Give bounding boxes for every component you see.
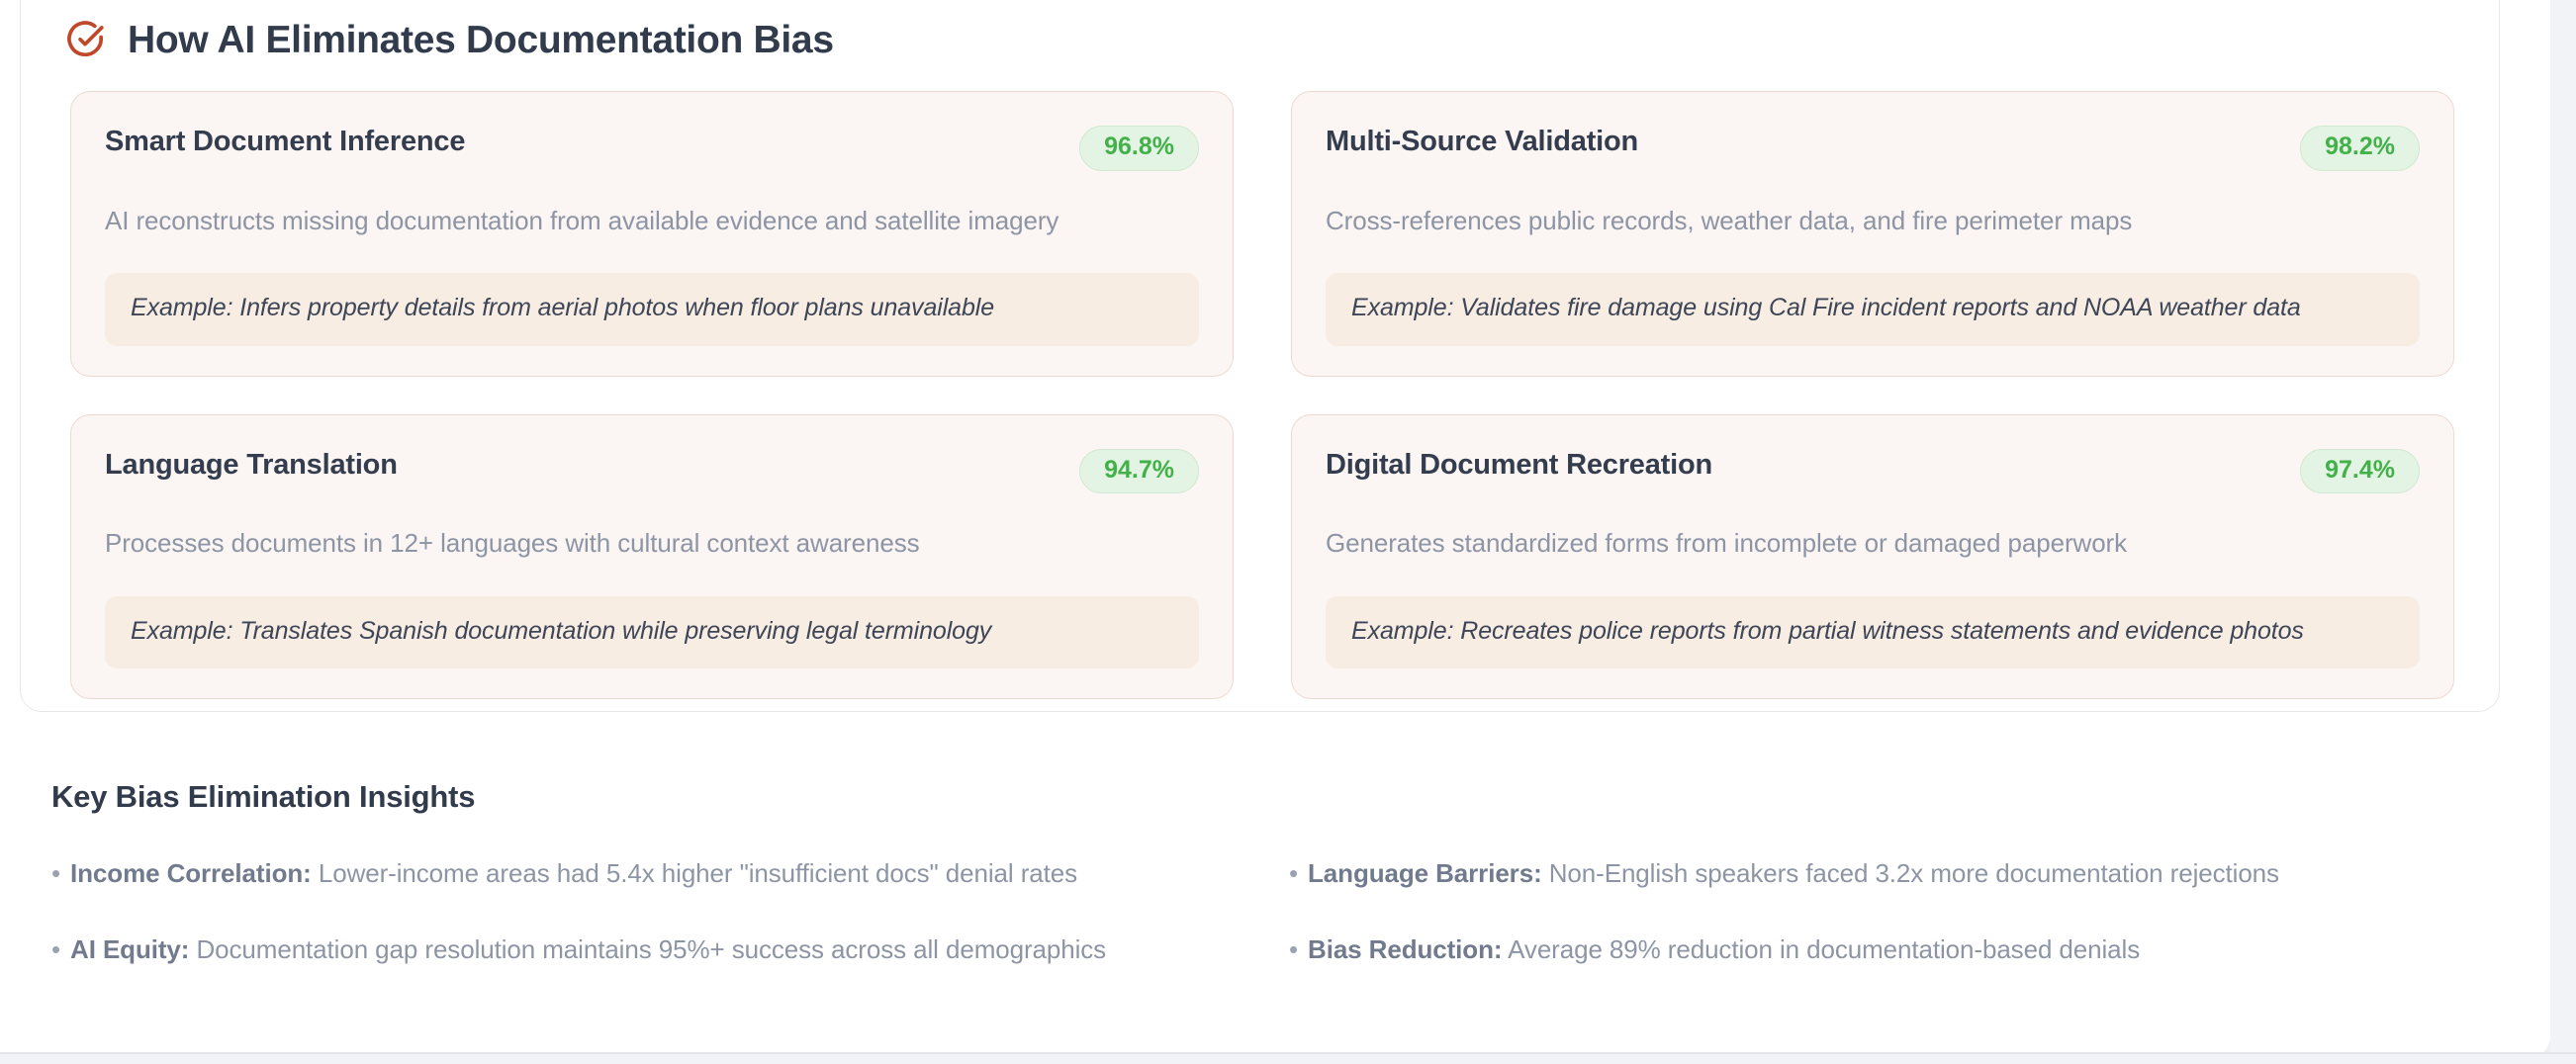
- insights-grid: • Income Correlation: Lower-income areas…: [51, 857, 2485, 965]
- card-description: Processes documents in 12+ languages wit…: [105, 527, 1199, 561]
- card-example-text: Example: Recreates police reports from p…: [1351, 616, 2394, 647]
- insight-label: AI Equity:: [70, 934, 189, 964]
- feature-card-multi-source-validation[interactable]: Multi-Source Validation 98.2% Cross-refe…: [1291, 91, 2454, 377]
- card-description: AI reconstructs missing documentation fr…: [105, 205, 1199, 238]
- insight-text: Average 89% reduction in documentation-b…: [1508, 934, 2140, 964]
- insight-item-income-correlation: • Income Correlation: Lower-income areas…: [51, 857, 1247, 890]
- insight-item-language-barriers: • Language Barriers: Non-English speaker…: [1289, 857, 2485, 890]
- card-description: Generates standardized forms from incomp…: [1326, 527, 2420, 561]
- insight-label: Income Correlation:: [70, 858, 312, 888]
- bullet-icon: •: [51, 857, 60, 890]
- card-header: Multi-Source Validation 98.2%: [1326, 126, 2420, 171]
- card-example-box: Example: Translates Spanish documentatio…: [105, 596, 1199, 668]
- accuracy-badge: 98.2%: [2300, 126, 2420, 171]
- insight-text: Documentation gap resolution maintains 9…: [196, 934, 1106, 964]
- feature-card-digital-document-recreation[interactable]: Digital Document Recreation 97.4% Genera…: [1291, 414, 2454, 700]
- section-header: How AI Eliminates Documentation Bias: [64, 19, 834, 60]
- check-circle-icon: [64, 19, 106, 60]
- page-background-bottom-edge: [0, 1054, 2576, 1064]
- accuracy-badge: 97.4%: [2300, 449, 2420, 494]
- documentation-bias-section: How AI Eliminates Documentation Bias Sma…: [20, 0, 2500, 712]
- feature-card-smart-document-inference[interactable]: Smart Document Inference 96.8% AI recons…: [70, 91, 1234, 377]
- insights-title: Key Bias Elimination Insights: [51, 781, 2485, 812]
- card-description: Cross-references public records, weather…: [1326, 205, 2420, 238]
- card-example-text: Example: Validates fire damage using Cal…: [1351, 293, 2394, 323]
- page-panel: How AI Eliminates Documentation Bias Sma…: [0, 0, 2550, 1058]
- card-example-box: Example: Recreates police reports from p…: [1326, 596, 2420, 668]
- page-title: How AI Eliminates Documentation Bias: [128, 21, 834, 59]
- feature-card-language-translation[interactable]: Language Translation 94.7% Processes doc…: [70, 414, 1234, 700]
- insight-label: Language Barriers:: [1308, 858, 1542, 888]
- accuracy-badge: 96.8%: [1079, 126, 1199, 171]
- card-example-box: Example: Infers property details from ae…: [105, 273, 1199, 345]
- bullet-icon: •: [1289, 857, 1298, 890]
- insight-item-ai-equity: • AI Equity: Documentation gap resolutio…: [51, 933, 1247, 966]
- feature-card-grid: Smart Document Inference 96.8% AI recons…: [70, 91, 2454, 699]
- key-insights-section: Key Bias Elimination Insights • Income C…: [51, 781, 2485, 965]
- card-example-text: Example: Translates Spanish documentatio…: [131, 616, 1173, 647]
- insight-text: Lower-income areas had 5.4x higher "insu…: [319, 858, 1077, 888]
- card-title: Digital Document Recreation: [1326, 449, 1712, 482]
- page-background-right-edge: [2550, 0, 2576, 1064]
- card-header: Language Translation 94.7%: [105, 449, 1199, 494]
- card-example-text: Example: Infers property details from ae…: [131, 293, 1173, 323]
- card-title: Smart Document Inference: [105, 126, 465, 158]
- card-example-box: Example: Validates fire damage using Cal…: [1326, 273, 2420, 345]
- insight-item-bias-reduction: • Bias Reduction: Average 89% reduction …: [1289, 933, 2485, 966]
- card-header: Smart Document Inference 96.8%: [105, 126, 1199, 171]
- card-title: Multi-Source Validation: [1326, 126, 1638, 158]
- insight-text: Non-English speakers faced 3.2x more doc…: [1549, 858, 2279, 888]
- card-title: Language Translation: [105, 449, 398, 482]
- page-inner: How AI Eliminates Documentation Bias Sma…: [0, 0, 2521, 1054]
- card-header: Digital Document Recreation 97.4%: [1326, 449, 2420, 494]
- bullet-icon: •: [1289, 933, 1298, 966]
- insight-label: Bias Reduction:: [1308, 934, 1502, 964]
- accuracy-badge: 94.7%: [1079, 449, 1199, 494]
- bullet-icon: •: [51, 933, 60, 966]
